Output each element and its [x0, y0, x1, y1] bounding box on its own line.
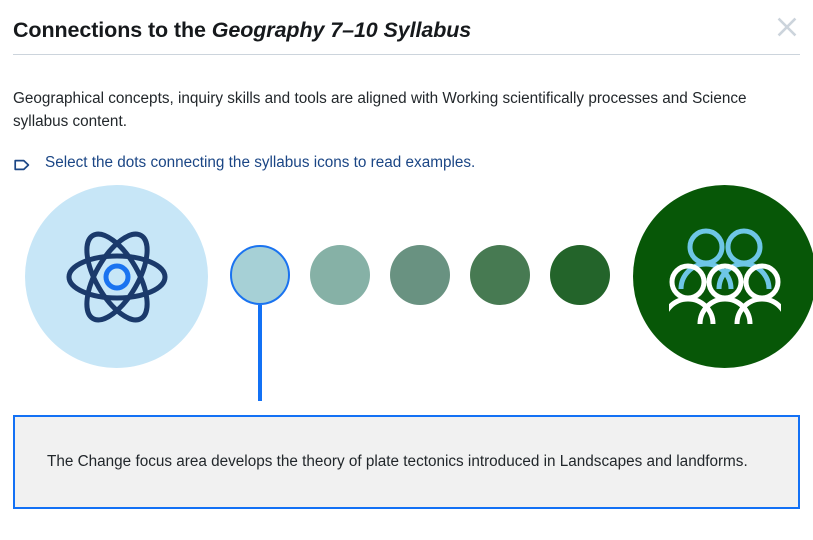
- dialog-header: Connections to the Geography 7–10 Syllab…: [0, 0, 813, 54]
- close-icon: [776, 16, 798, 38]
- page-title: Connections to the Geography 7–10 Syllab…: [13, 14, 800, 44]
- syllabus-connection-diagram: [13, 185, 800, 400]
- hint-text: Select the dots connecting the syllabus …: [45, 153, 475, 173]
- page-title-emphasis: Geography 7–10 Syllabus: [212, 18, 471, 42]
- syllabus-dot-3[interactable]: [390, 245, 450, 305]
- syllabus-dot-5[interactable]: [550, 245, 610, 305]
- tag-icon: [13, 155, 33, 175]
- page-title-lead: Connections to the: [13, 18, 212, 42]
- syllabus-connections-dialog: Connections to the Geography 7–10 Syllab…: [0, 0, 813, 540]
- dot-track: [13, 185, 800, 368]
- header-divider: [13, 54, 800, 55]
- callout-text: The Change focus area develops the theor…: [15, 451, 778, 474]
- dialog-body: Geographical concepts, inquiry skills an…: [0, 54, 813, 400]
- intro-paragraph: Geographical concepts, inquiry skills an…: [13, 54, 773, 133]
- close-button[interactable]: [769, 9, 805, 45]
- syllabus-dot-2[interactable]: [310, 245, 370, 305]
- hint-row: Select the dots connecting the syllabus …: [13, 133, 800, 175]
- example-callout: The Change focus area develops the theor…: [13, 415, 800, 509]
- syllabus-dot-4[interactable]: [470, 245, 530, 305]
- syllabus-dot-1[interactable]: [230, 245, 290, 305]
